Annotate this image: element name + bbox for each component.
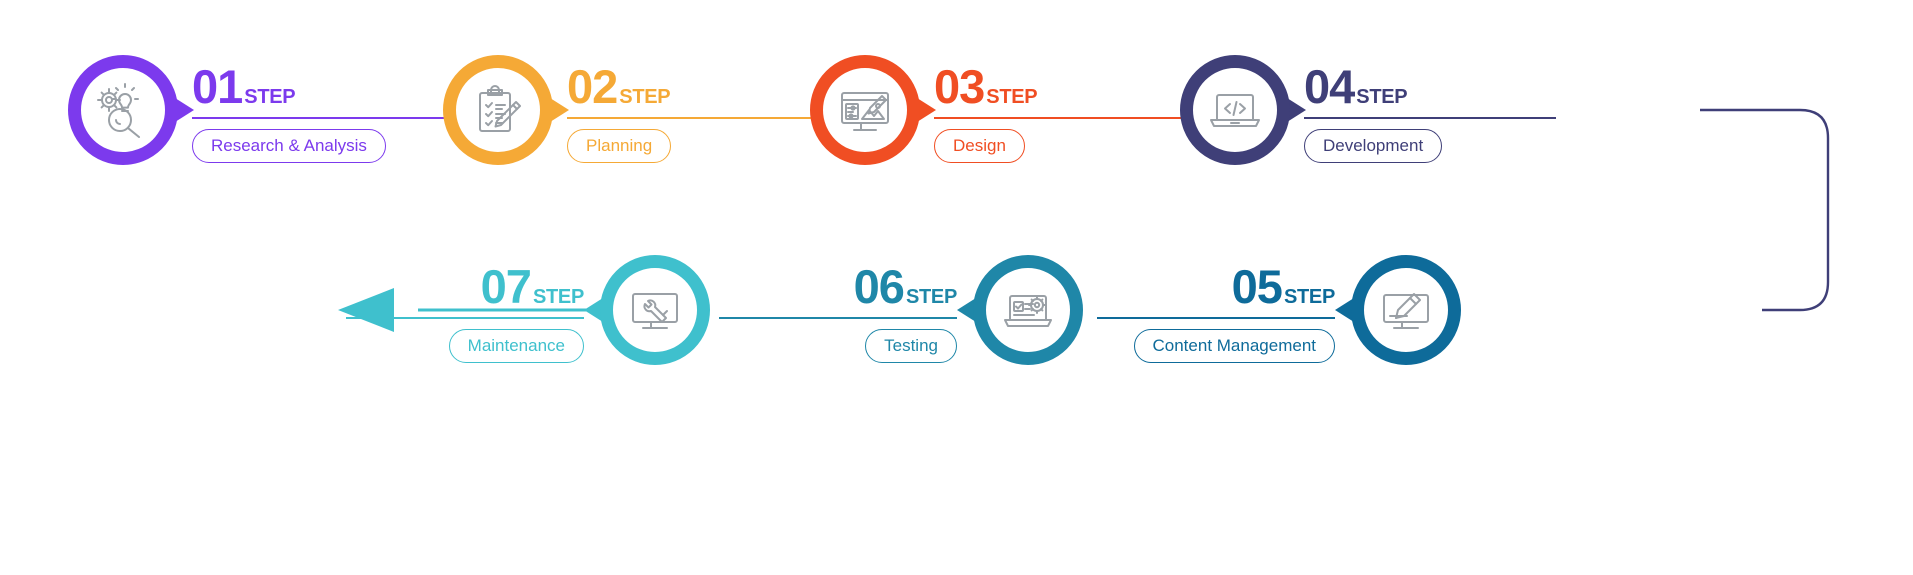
step-03-pill-row: Design: [934, 119, 1186, 163]
step-06-pill-row: Testing: [719, 319, 957, 363]
step-05-ring-wrap: [1351, 255, 1461, 365]
step-06-ring: [973, 255, 1083, 365]
step-07-label-pill[interactable]: Maintenance: [449, 329, 584, 363]
step-05-ring: [1351, 255, 1461, 365]
step-06-ring-wrap: [973, 255, 1083, 365]
step-03-label-pill[interactable]: Design: [934, 129, 1025, 163]
step-05-pill-row: Content Management: [1097, 319, 1335, 363]
step-04-pill-row: Development: [1304, 119, 1556, 163]
step-07-ring-wrap: [600, 255, 710, 365]
monitor-wrench-icon: [625, 280, 685, 340]
monitor-design-pen-icon: [835, 80, 895, 140]
step-05-number: 05: [1232, 263, 1282, 310]
step-07-text: 07 STEP Maintenance: [346, 263, 584, 363]
step-01-number: 01: [192, 63, 242, 110]
step-04-number: 04: [1304, 63, 1354, 110]
step-05-label-pill[interactable]: Content Management: [1134, 329, 1336, 363]
step-05-step-word: STEP: [1284, 287, 1335, 307]
step-04-ring: [1180, 55, 1290, 165]
step-07-pill-row: Maintenance: [346, 319, 584, 363]
step-01-pill-row: Research & Analysis: [192, 119, 444, 163]
step-07-ring: [600, 255, 710, 365]
step-03-number-row: 03 STEP: [934, 63, 1186, 110]
step-06-number: 06: [854, 263, 904, 310]
step-02-number-row: 02 STEP: [567, 63, 819, 110]
step-01-step-word: STEP: [244, 87, 295, 107]
gear-magnifier-lightbulb-icon: [91, 78, 155, 142]
step-02-ring: [443, 55, 553, 165]
step-02-label-pill[interactable]: Planning: [567, 129, 671, 163]
step-06-label-pill[interactable]: Testing: [865, 329, 957, 363]
step-02-ring-wrap: [443, 55, 553, 165]
step-05-number-row: 05 STEP: [1097, 263, 1335, 310]
step-04-number-row: 04 STEP: [1304, 63, 1556, 110]
monitor-edit-pen-icon: [1376, 280, 1436, 340]
step-07-step-word: STEP: [533, 287, 584, 307]
wrap-around-connector: [1700, 110, 1828, 310]
step-04-ring-wrap: [1180, 55, 1290, 165]
process-flow-infographic: 01 STEP Research & Analysis: [0, 0, 1913, 575]
step-02-number: 02: [567, 63, 617, 110]
laptop-code-icon: [1205, 80, 1265, 140]
step-01-text: 01 STEP Research & Analysis: [192, 63, 444, 163]
step-04-text: 04 STEP Development: [1304, 63, 1556, 163]
step-03-ring-wrap: [810, 55, 920, 165]
step-02-text: 02 STEP Planning: [567, 63, 819, 163]
step-06-step-word: STEP: [906, 287, 957, 307]
step-04-step-word: STEP: [1356, 87, 1407, 107]
step-02-pill-row: Planning: [567, 119, 819, 163]
step-01-ring-wrap: [68, 55, 178, 165]
step-03-step-word: STEP: [986, 87, 1037, 107]
step-01-number-row: 01 STEP: [192, 63, 444, 110]
laptop-checklist-gear-icon: [998, 280, 1058, 340]
step-06-number-row: 06 STEP: [719, 263, 957, 310]
step-03-number: 03: [934, 63, 984, 110]
step-07-number-row: 07 STEP: [346, 263, 584, 310]
clipboard-pencil-icon: [469, 81, 527, 139]
step-06-text: 06 STEP Testing: [719, 263, 957, 363]
step-04-label-pill[interactable]: Development: [1304, 129, 1442, 163]
step-01-label-pill[interactable]: Research & Analysis: [192, 129, 386, 163]
step-07-number: 07: [481, 263, 531, 310]
step-03-text: 03 STEP Design: [934, 63, 1186, 163]
step-01-ring: [68, 55, 178, 165]
step-02-step-word: STEP: [619, 87, 670, 107]
step-03-ring: [810, 55, 920, 165]
step-05-text: 05 STEP Content Management: [1097, 263, 1335, 363]
